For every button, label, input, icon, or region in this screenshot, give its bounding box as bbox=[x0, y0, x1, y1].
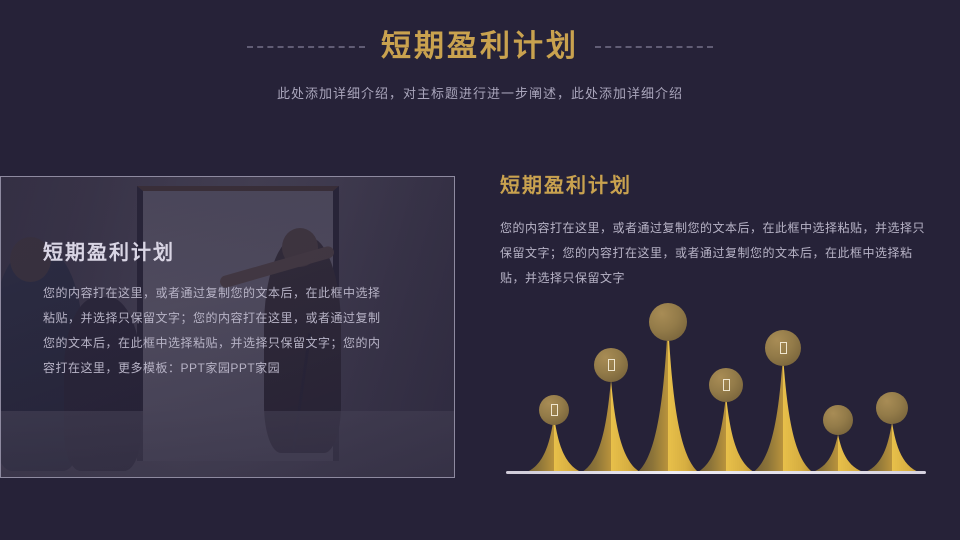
page-subtitle: 此处添加详细介绍，对主标题进行进一步阐述，此处添加详细介绍 bbox=[0, 84, 960, 104]
right-panel-heading: 短期盈利计划 bbox=[500, 172, 930, 200]
left-image-card: 短期盈利计划 您的内容打在这里，或者通过复制您的文本后，在此框中选择粘贴，并选择… bbox=[0, 176, 455, 478]
peak-right-face bbox=[838, 434, 871, 474]
peak-right-face bbox=[726, 395, 759, 474]
right-text-block: 短期盈利计划 您的内容打在这里，或者通过复制您的文本后，在此框中选择粘贴，并选择… bbox=[500, 172, 930, 291]
peak-left-face bbox=[693, 395, 726, 474]
peak-chart bbox=[498, 300, 938, 482]
left-panel-body: 您的内容打在这里，或者通过复制您的文本后，在此框中选择粘贴，并选择只保留文字；您… bbox=[43, 281, 383, 381]
peak-left-face bbox=[859, 422, 892, 474]
left-panel-heading: 短期盈利计划 bbox=[43, 239, 414, 267]
title-row: 短期盈利计划 bbox=[0, 26, 960, 68]
peak-node-circle-6[interactable] bbox=[823, 405, 853, 435]
peak-right-face bbox=[554, 416, 587, 474]
right-panel-body: 您的内容打在这里，或者通过复制您的文本后，在此框中选择粘贴，并选择只保留文字；您… bbox=[500, 216, 930, 291]
peak-right-face bbox=[892, 422, 925, 474]
peak-node-circle-2[interactable] bbox=[594, 348, 628, 382]
peak-node-circle-4[interactable] bbox=[709, 368, 743, 402]
peak-node-circle-3[interactable] bbox=[649, 303, 687, 341]
peak-right-face bbox=[783, 355, 816, 474]
peak-node-circle-5[interactable] bbox=[765, 330, 801, 366]
peak-right-face bbox=[668, 322, 701, 474]
slide-root: 短期盈利计划 此处添加详细介绍，对主标题进行进一步阐述，此处添加详细介绍 短期盈… bbox=[0, 0, 960, 540]
missing-glyph-box-icon bbox=[551, 404, 558, 416]
peak-right-face bbox=[611, 380, 644, 474]
missing-glyph-box-icon bbox=[608, 359, 615, 371]
slide-header: 短期盈利计划 此处添加详细介绍，对主标题进行进一步阐述，此处添加详细介绍 bbox=[0, 26, 960, 104]
peak-left-face bbox=[578, 380, 611, 474]
page-title: 短期盈利计划 bbox=[381, 27, 579, 67]
missing-glyph-box-icon bbox=[723, 379, 730, 391]
peak-left-face bbox=[750, 355, 783, 474]
peak-node-circle-1[interactable] bbox=[539, 395, 569, 425]
chart-baseline bbox=[506, 471, 926, 474]
left-text-block: 短期盈利计划 您的内容打在这里，或者通过复制您的文本后，在此框中选择粘贴，并选择… bbox=[43, 239, 414, 381]
missing-glyph-box-icon bbox=[780, 342, 787, 354]
dashed-rule-left-icon bbox=[247, 46, 365, 48]
peak-left-face bbox=[635, 322, 668, 474]
peak-left-face bbox=[521, 416, 554, 474]
dashed-rule-right-icon bbox=[595, 46, 713, 48]
peak-left-face bbox=[805, 434, 838, 474]
peak-node-circle-7[interactable] bbox=[876, 392, 908, 424]
